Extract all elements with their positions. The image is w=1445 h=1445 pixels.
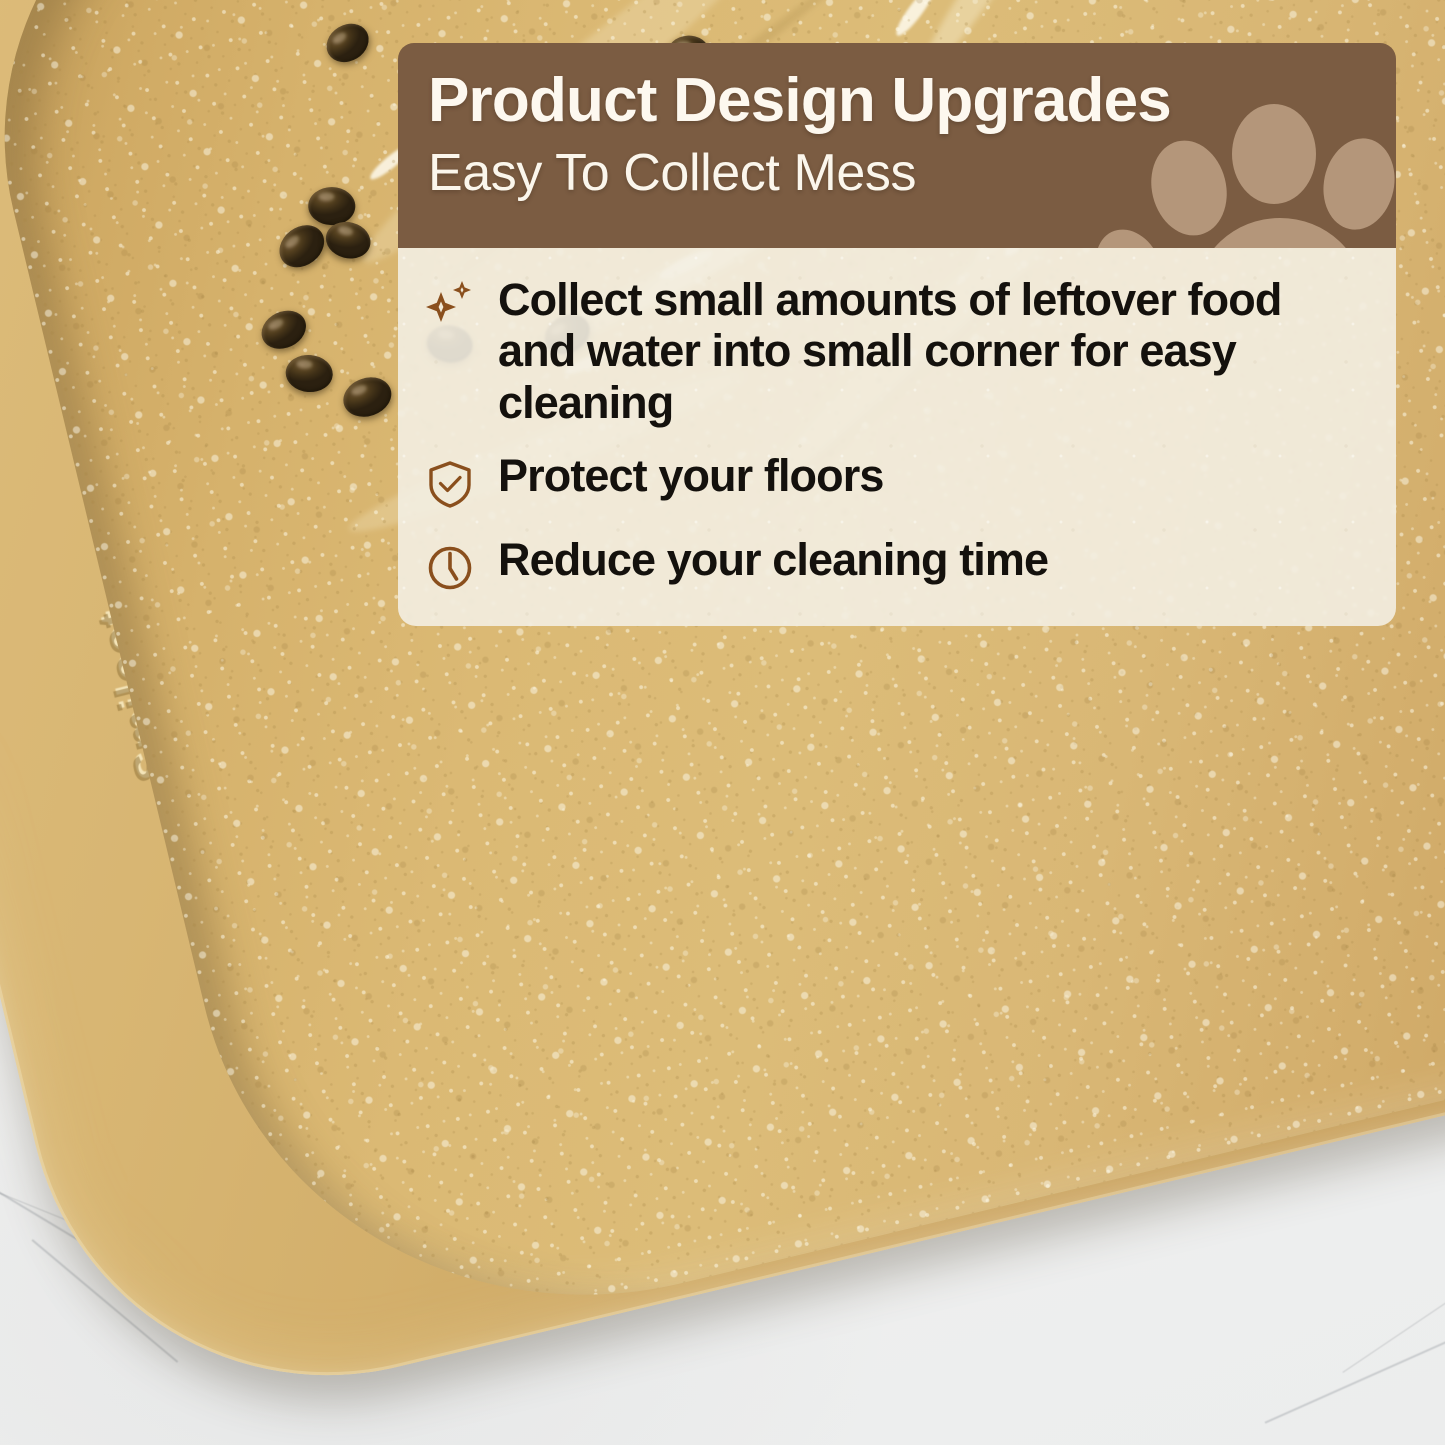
clock-icon	[422, 540, 478, 596]
card-subtitle: Easy To Collect Mess	[428, 146, 1366, 200]
feature-item: Reduce your cleaning time	[422, 534, 1370, 596]
card-title: Product Design Upgrades	[428, 69, 1366, 132]
card-feature-list: Collect small amounts of leftover food a…	[398, 248, 1396, 626]
kibble-piece	[308, 187, 355, 225]
feature-item: Collect small amounts of leftover food a…	[422, 274, 1370, 428]
feature-label: Reduce your cleaning time	[498, 534, 1048, 585]
feature-label: Collect small amounts of leftover food a…	[498, 274, 1370, 428]
feature-info-card: Product Design Upgrades Easy To Collect …	[398, 43, 1396, 626]
card-header: Product Design Upgrades Easy To Collect …	[398, 43, 1396, 248]
product-photo-stage: Smiloot	[0, 0, 1445, 1445]
feature-item: Protect your floors	[422, 450, 1370, 512]
shield-check-icon	[422, 456, 478, 512]
sparkle-icon	[422, 276, 478, 332]
feature-label: Protect your floors	[498, 450, 883, 501]
